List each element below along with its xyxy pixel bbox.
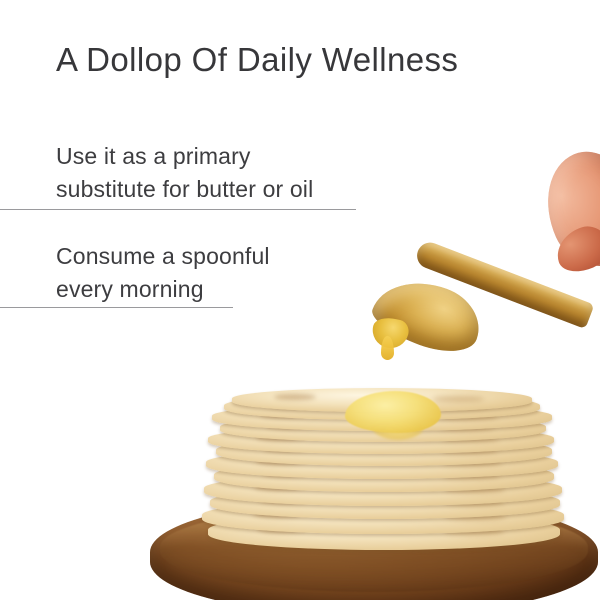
- spoon-tip: [369, 314, 411, 352]
- wooden-serving-board: [150, 498, 598, 600]
- melted-ghee-dollop: [345, 391, 441, 433]
- flatbread-layer: [202, 500, 564, 534]
- flatbread-layer: [208, 514, 560, 550]
- flatbread-layer: [214, 461, 554, 492]
- flatbread-layer: [210, 487, 560, 519]
- promo-card: A Dollop Of Daily Wellness Use it as a p…: [0, 0, 600, 600]
- ghee-run: [372, 418, 424, 440]
- tip-spoonful-morning: Consume a spoonful every morning: [0, 240, 600, 305]
- flatbread-layer: [212, 404, 552, 431]
- page-title: A Dollop Of Daily Wellness: [56, 42, 458, 78]
- tip-line-2: every morning: [56, 273, 600, 306]
- tip-line-1: Use it as a primary: [56, 140, 600, 173]
- tip-text: Consume a spoonful every morning: [0, 240, 600, 305]
- flatbread-layer: [216, 437, 552, 466]
- board-rim: [160, 506, 588, 592]
- tip-line-2: substitute for butter or oil: [56, 173, 600, 206]
- flatbread-layer: [208, 426, 554, 454]
- flatbread-layer: [206, 449, 558, 479]
- flatbread-layer: [224, 394, 540, 420]
- roti-flatbread-stack: [198, 388, 570, 550]
- ghee-drip: [381, 336, 394, 360]
- tip-primary-substitute: Use it as a primary substitute for butte…: [0, 140, 600, 205]
- flatbread-layer: [204, 474, 562, 506]
- flatbread-layer: [220, 415, 546, 442]
- tip-line-1: Consume a spoonful: [56, 240, 600, 273]
- tip-underline-rule: [0, 307, 233, 308]
- tip-underline-rule: [0, 209, 356, 210]
- tip-text: Use it as a primary substitute for butte…: [0, 140, 600, 205]
- flatbread-layer: [232, 388, 532, 412]
